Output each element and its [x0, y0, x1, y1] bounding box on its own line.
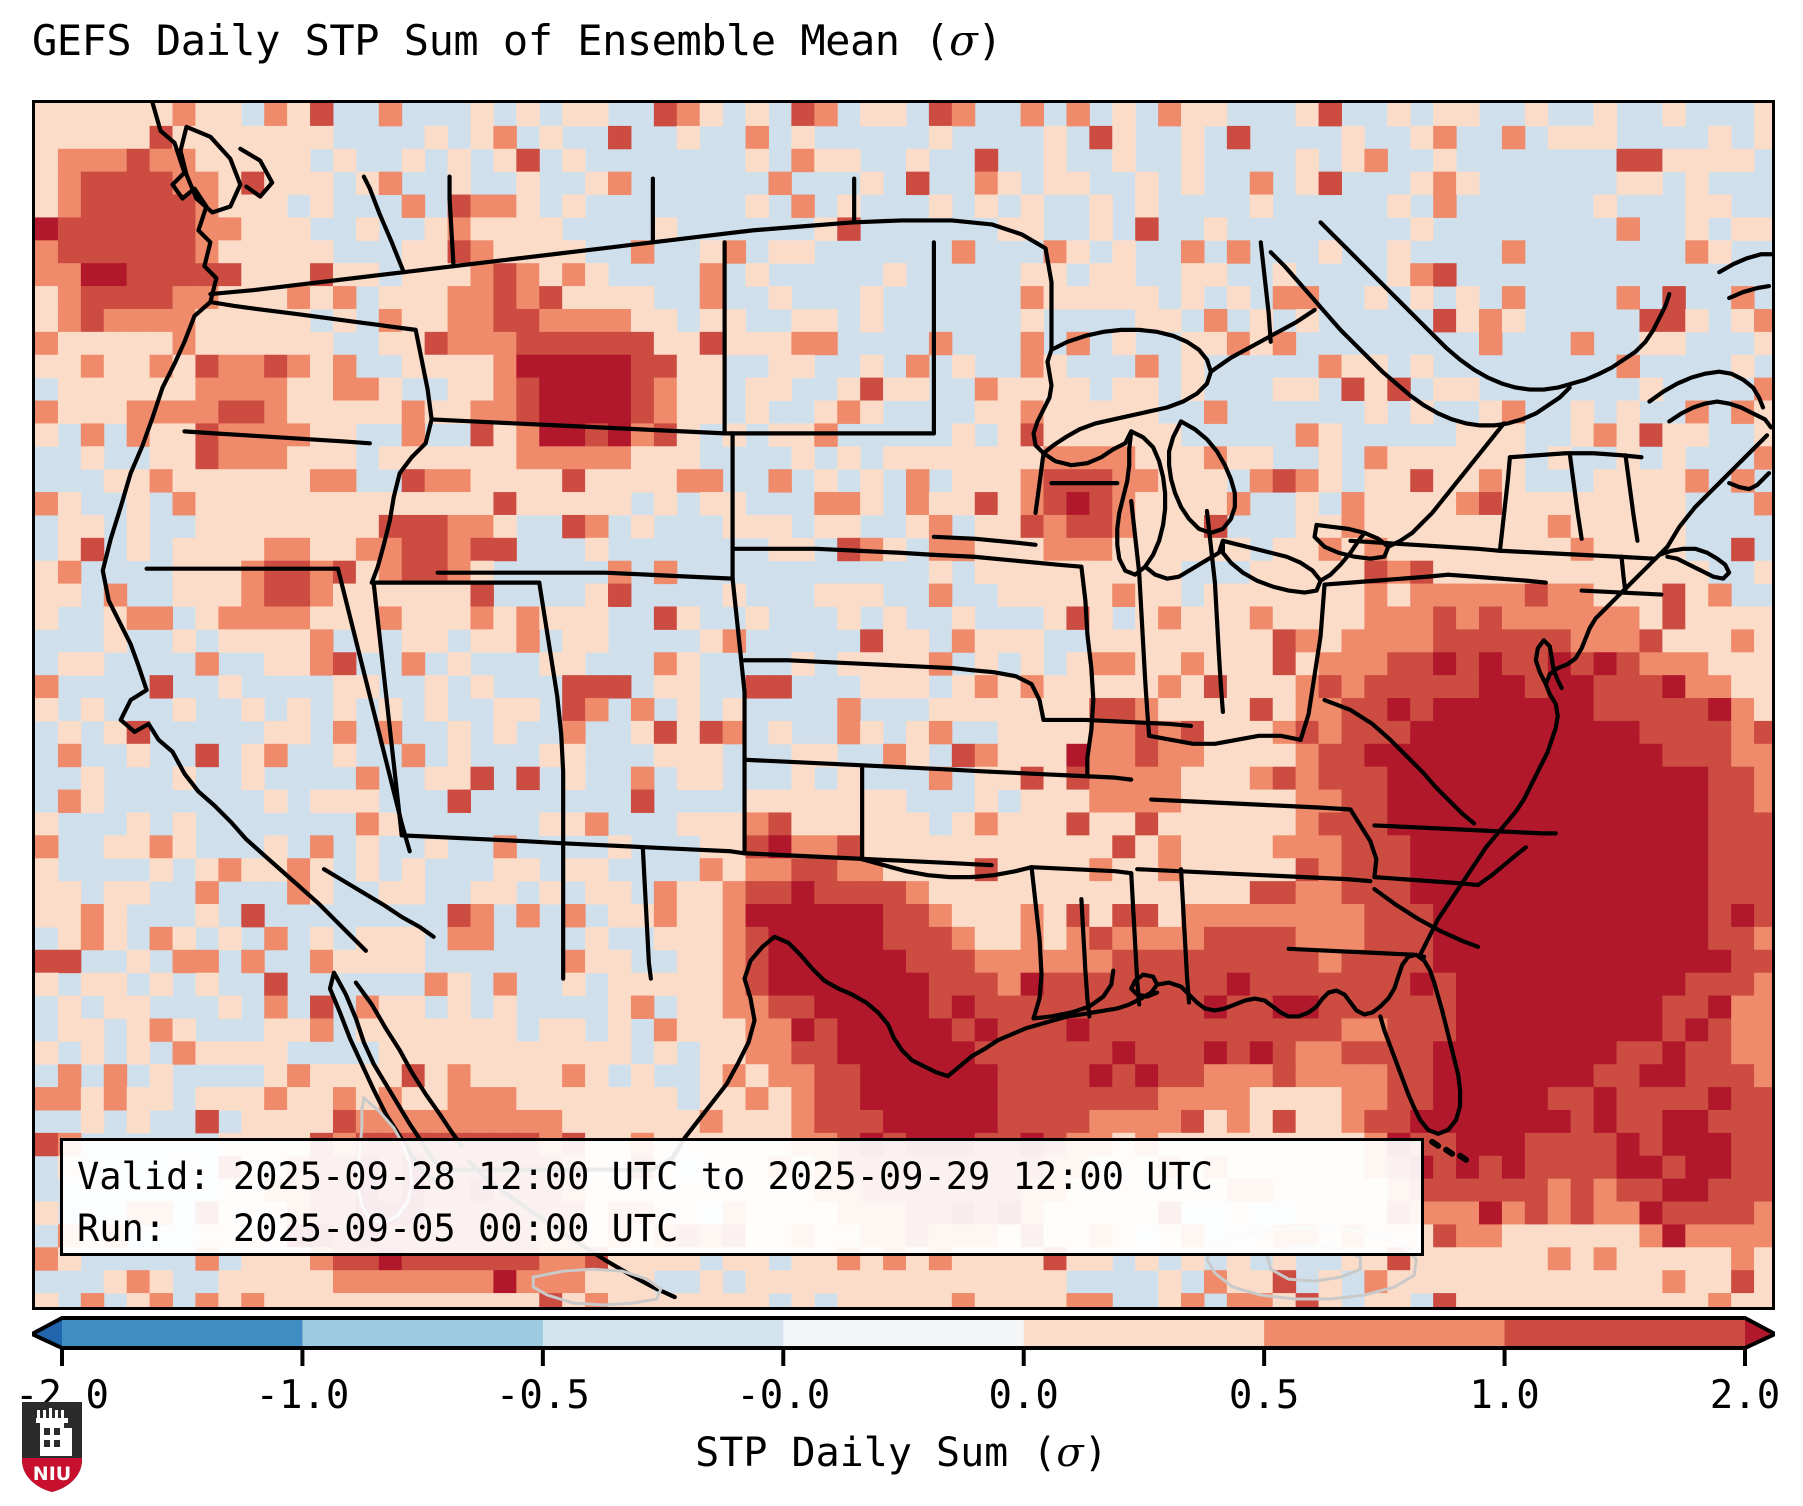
heatmap-cell — [1731, 1110, 1754, 1133]
heatmap-cell — [1548, 790, 1571, 813]
heatmap-cell — [81, 790, 104, 813]
heatmap-cell — [195, 744, 218, 767]
heatmap-cell — [1548, 606, 1571, 629]
heatmap-cell — [1754, 1110, 1772, 1133]
heatmap-cell — [1319, 446, 1342, 469]
heatmap-cell — [241, 744, 264, 767]
heatmap-cell — [700, 1018, 723, 1041]
heatmap-cell — [1250, 744, 1273, 767]
heatmap-cell — [1594, 561, 1617, 584]
heatmap-cell — [1089, 606, 1112, 629]
heatmap-cell — [1158, 744, 1181, 767]
heatmap-cell — [608, 973, 631, 996]
heatmap-cell — [1319, 423, 1342, 446]
heatmap-cell — [287, 103, 310, 126]
heatmap-cell — [333, 744, 356, 767]
heatmap-cell — [310, 355, 333, 378]
heatmap-cell — [1571, 1110, 1594, 1133]
heatmap-cell — [929, 698, 952, 721]
heatmap-cell — [35, 492, 58, 515]
heatmap-cell — [1754, 652, 1772, 675]
heatmap-cell — [1639, 469, 1662, 492]
heatmap-cell — [448, 286, 471, 309]
heatmap-cell — [1685, 721, 1708, 744]
heatmap-cell — [1433, 515, 1456, 538]
heatmap-cell — [1662, 469, 1685, 492]
heatmap-cell — [218, 538, 241, 561]
heatmap-cell — [104, 1270, 127, 1293]
heatmap-cell — [723, 950, 746, 973]
heatmap-cell — [310, 240, 333, 263]
heatmap-cell — [1525, 103, 1548, 126]
heatmap-cell — [1754, 561, 1772, 584]
heatmap-cell — [104, 355, 127, 378]
heatmap-cell — [975, 927, 998, 950]
heatmap-cell — [35, 606, 58, 629]
heatmap-cell — [218, 858, 241, 881]
heatmap-cell — [562, 309, 585, 332]
heatmap-cell — [585, 675, 608, 698]
heatmap-cell — [929, 835, 952, 858]
heatmap-cell — [998, 1293, 1021, 1307]
heatmap-cell — [631, 378, 654, 401]
heatmap-cell — [1525, 973, 1548, 996]
heatmap-cell — [1754, 1087, 1772, 1110]
heatmap-cell — [1754, 446, 1772, 469]
heatmap-cell — [1066, 240, 1089, 263]
heatmap-cell — [516, 629, 539, 652]
heatmap-cell — [585, 950, 608, 973]
heatmap-cell — [218, 309, 241, 332]
heatmap-cell — [1594, 629, 1617, 652]
heatmap-cell — [1158, 652, 1181, 675]
heatmap-cell — [975, 195, 998, 218]
heatmap-cell — [333, 1293, 356, 1307]
heatmap-cell — [1594, 126, 1617, 149]
heatmap-cell — [585, 263, 608, 286]
heatmap-cell — [1341, 927, 1364, 950]
heatmap-cell — [1227, 950, 1250, 973]
heatmap-cell — [448, 1018, 471, 1041]
heatmap-cell — [493, 973, 516, 996]
heatmap-cell — [218, 629, 241, 652]
heatmap-cell — [700, 469, 723, 492]
heatmap-cell — [1502, 996, 1525, 1019]
heatmap-cell — [1296, 744, 1319, 767]
heatmap-cell — [1548, 927, 1571, 950]
heatmap-cell — [1250, 1110, 1273, 1133]
heatmap-cell — [1341, 1087, 1364, 1110]
heatmap-cell — [1456, 835, 1479, 858]
heatmap-cell — [493, 1064, 516, 1087]
heatmap-cell — [1181, 126, 1204, 149]
heatmap-cell — [104, 286, 127, 309]
heatmap-cell — [1662, 446, 1685, 469]
heatmap-cell — [218, 103, 241, 126]
heatmap-cell — [35, 1293, 58, 1307]
heatmap-cell — [768, 1270, 791, 1293]
heatmap-cell — [1089, 217, 1112, 240]
heatmap-cell — [677, 812, 700, 835]
heatmap-cell — [150, 423, 173, 446]
heatmap-cell — [608, 1018, 631, 1041]
heatmap-cell — [768, 996, 791, 1019]
heatmap-cell — [81, 401, 104, 424]
heatmap-cell — [1410, 606, 1433, 629]
heatmap-cell — [448, 767, 471, 790]
heatmap-cell — [1433, 1179, 1456, 1202]
heatmap-cell — [173, 561, 196, 584]
heatmap-cell — [677, 469, 700, 492]
heatmap-cell — [425, 469, 448, 492]
heatmap-cell — [1250, 1064, 1273, 1087]
heatmap-cell — [1021, 378, 1044, 401]
heatmap-cell — [1594, 1018, 1617, 1041]
heatmap-cell — [1662, 1064, 1685, 1087]
heatmap-cell — [562, 629, 585, 652]
heatmap-cell — [906, 492, 929, 515]
heatmap-cell — [539, 1064, 562, 1087]
heatmap-cell — [654, 423, 677, 446]
heatmap-cell — [1617, 1110, 1640, 1133]
heatmap-cell — [35, 1202, 58, 1225]
heatmap-cell — [1525, 1064, 1548, 1087]
heatmap-cell — [1135, 1018, 1158, 1041]
heatmap-cell — [218, 675, 241, 698]
heatmap-cell — [402, 469, 425, 492]
heatmap-cell — [1158, 996, 1181, 1019]
heatmap-cell — [1158, 1041, 1181, 1064]
heatmap-cell — [1250, 835, 1273, 858]
heatmap-cell — [104, 263, 127, 286]
heatmap-cell — [333, 652, 356, 675]
heatmap-cell — [700, 492, 723, 515]
heatmap-cell — [1181, 515, 1204, 538]
heatmap-cell — [1639, 904, 1662, 927]
heatmap-cell — [1479, 1018, 1502, 1041]
heatmap-cell — [173, 629, 196, 652]
heatmap-cell — [493, 698, 516, 721]
heatmap-cell — [310, 835, 333, 858]
colorbar-tick-label: 0.0 — [988, 1374, 1058, 1418]
heatmap-cell — [654, 1041, 677, 1064]
heatmap-cell — [1066, 103, 1089, 126]
heatmap-cell — [287, 606, 310, 629]
heatmap-cell — [1754, 629, 1772, 652]
heatmap-cell — [1456, 1202, 1479, 1225]
heatmap-cell — [1410, 263, 1433, 286]
heatmap-cell — [1021, 1087, 1044, 1110]
heatmap-cell — [1594, 195, 1617, 218]
heatmap-cell — [1044, 904, 1067, 927]
heatmap-cell — [287, 1110, 310, 1133]
heatmap-cell — [58, 195, 81, 218]
heatmap-cell — [906, 1110, 929, 1133]
heatmap-cell — [448, 927, 471, 950]
heatmap-cell — [975, 172, 998, 195]
heatmap-cell — [448, 721, 471, 744]
heatmap-cell — [1708, 996, 1731, 1019]
heatmap-cell — [791, 1110, 814, 1133]
heatmap-cell — [448, 355, 471, 378]
heatmap-cell — [1502, 1224, 1525, 1247]
heatmap-cell — [1135, 1087, 1158, 1110]
heatmap-cell — [1571, 538, 1594, 561]
heatmap-cell — [1044, 812, 1067, 835]
heatmap-cell — [35, 1133, 58, 1156]
heatmap-cell — [1525, 1224, 1548, 1247]
heatmap-cell — [264, 469, 287, 492]
heatmap-cell — [952, 1270, 975, 1293]
heatmap-cell — [1066, 378, 1089, 401]
heatmap-cell — [241, 469, 264, 492]
heatmap-cell — [1158, 1270, 1181, 1293]
heatmap-cell — [127, 1270, 150, 1293]
heatmap-cell — [654, 446, 677, 469]
heatmap-cell — [746, 149, 769, 172]
heatmap-cell — [585, 927, 608, 950]
heatmap-cell — [1227, 675, 1250, 698]
heatmap-cell — [906, 469, 929, 492]
heatmap-cell — [1662, 561, 1685, 584]
heatmap-cell — [1571, 584, 1594, 607]
heatmap-cell — [1227, 812, 1250, 835]
heatmap-cell — [379, 927, 402, 950]
heatmap-cell — [1158, 927, 1181, 950]
heatmap-cell — [998, 1064, 1021, 1087]
heatmap-cell — [654, 378, 677, 401]
heatmap-cell — [1364, 1110, 1387, 1133]
heatmap-cell — [1456, 584, 1479, 607]
heatmap-cell — [1433, 835, 1456, 858]
heatmap-cell — [264, 927, 287, 950]
heatmap-cell — [585, 515, 608, 538]
heatmap-cell — [585, 469, 608, 492]
heatmap-cell — [837, 1110, 860, 1133]
heatmap-cell — [218, 378, 241, 401]
heatmap-cell — [470, 446, 493, 469]
heatmap-cell — [929, 584, 952, 607]
heatmap-cell — [1296, 606, 1319, 629]
heatmap-cell — [585, 172, 608, 195]
heatmap-cell — [975, 1110, 998, 1133]
heatmap-cell — [1227, 240, 1250, 263]
heatmap-cell — [310, 286, 333, 309]
heatmap-cell — [1548, 835, 1571, 858]
heatmap-cell — [35, 812, 58, 835]
heatmap-cell — [1548, 996, 1571, 1019]
heatmap-cell — [287, 1293, 310, 1307]
heatmap-cell — [1021, 835, 1044, 858]
heatmap-cell — [723, 1018, 746, 1041]
heatmap-cell — [425, 1041, 448, 1064]
heatmap-cell — [287, 355, 310, 378]
heatmap-cell — [150, 927, 173, 950]
heatmap-cell — [906, 904, 929, 927]
heatmap-cell — [1158, 606, 1181, 629]
heatmap-cell — [585, 629, 608, 652]
heatmap-cell — [677, 1293, 700, 1307]
heatmap-cell — [1639, 1087, 1662, 1110]
heatmap-cell — [81, 240, 104, 263]
heatmap-cell — [1685, 1018, 1708, 1041]
heatmap-cell — [631, 423, 654, 446]
heatmap-cell — [173, 401, 196, 424]
heatmap-cell — [631, 446, 654, 469]
heatmap-cell — [195, 652, 218, 675]
heatmap-cell — [700, 286, 723, 309]
heatmap-cell — [1754, 606, 1772, 629]
heatmap-cell — [1548, 584, 1571, 607]
heatmap-cell — [791, 881, 814, 904]
heatmap-cell — [1525, 1247, 1548, 1270]
heatmap-cell — [241, 217, 264, 240]
heatmap-cell — [1410, 996, 1433, 1019]
heatmap-cell — [1089, 492, 1112, 515]
heatmap-cell — [1364, 904, 1387, 927]
heatmap-cell — [1319, 355, 1342, 378]
heatmap-cell — [1594, 835, 1617, 858]
heatmap-cell — [814, 812, 837, 835]
heatmap-cell — [1548, 538, 1571, 561]
heatmap-cell — [1708, 1087, 1731, 1110]
heatmap-cell — [35, 973, 58, 996]
heatmap-cell — [150, 1018, 173, 1041]
heatmap-cell — [1433, 195, 1456, 218]
heatmap-cell — [883, 1110, 906, 1133]
heatmap-cell — [1662, 881, 1685, 904]
heatmap-cell — [654, 881, 677, 904]
heatmap-cell — [1089, 286, 1112, 309]
heatmap-cell — [493, 1270, 516, 1293]
heatmap-cell — [516, 446, 539, 469]
heatmap-cell — [1319, 744, 1342, 767]
heatmap-cell — [1410, 561, 1433, 584]
heatmap-cell — [1227, 1064, 1250, 1087]
heatmap-cell — [814, 1018, 837, 1041]
heatmap-cell — [1112, 927, 1135, 950]
heatmap-cell — [608, 378, 631, 401]
heatmap-cell — [1204, 1087, 1227, 1110]
heatmap-cell — [654, 309, 677, 332]
heatmap-cell — [631, 1087, 654, 1110]
heatmap-cell — [333, 1110, 356, 1133]
heatmap-cell — [425, 286, 448, 309]
heatmap-cell — [173, 835, 196, 858]
heatmap-cell — [310, 1270, 333, 1293]
colorbar-axis-label: STP Daily Sum (σ) — [0, 1430, 1803, 1476]
heatmap-cell — [81, 538, 104, 561]
heatmap-cell — [814, 790, 837, 813]
heatmap-cell — [402, 515, 425, 538]
heatmap-cell — [1548, 973, 1571, 996]
heatmap-cell — [287, 240, 310, 263]
heatmap-cell — [1594, 1110, 1617, 1133]
heatmap-cell — [1181, 1110, 1204, 1133]
heatmap-cell — [1708, 584, 1731, 607]
heatmap-cell — [860, 584, 883, 607]
heatmap-cell — [195, 950, 218, 973]
heatmap-cell — [1089, 515, 1112, 538]
heatmap-cell — [104, 309, 127, 332]
heatmap-cell — [1708, 1224, 1731, 1247]
colorbar[interactable] — [32, 1314, 1775, 1356]
heatmap-cell — [1639, 1133, 1662, 1156]
heatmap-cell — [1250, 767, 1273, 790]
heatmap-cell — [1456, 950, 1479, 973]
heatmap-cell — [1364, 652, 1387, 675]
heatmap-cell — [998, 469, 1021, 492]
heatmap-cell — [860, 286, 883, 309]
heatmap-cell — [287, 469, 310, 492]
heatmap-cell — [1502, 904, 1525, 927]
heatmap-cell — [1594, 744, 1617, 767]
heatmap-cell — [1639, 1202, 1662, 1225]
heatmap-cell — [1731, 675, 1754, 698]
heatmap-cell — [1387, 240, 1410, 263]
heatmap-cell — [906, 835, 929, 858]
heatmap-cell — [470, 378, 493, 401]
heatmap-cell — [631, 1064, 654, 1087]
heatmap-cell — [470, 767, 493, 790]
heatmap-cell — [1341, 767, 1364, 790]
heatmap-cell — [814, 332, 837, 355]
heatmap-cell — [1594, 927, 1617, 950]
heatmap-cell — [127, 195, 150, 218]
heatmap-cell — [562, 950, 585, 973]
heatmap-cell — [1571, 1156, 1594, 1179]
heatmap-cell — [1341, 492, 1364, 515]
heatmap-cell — [333, 561, 356, 584]
heatmap-cell — [287, 1064, 310, 1087]
heatmap-cell — [791, 355, 814, 378]
heatmap-cell — [356, 835, 379, 858]
heatmap-cell — [814, 1087, 837, 1110]
heatmap-cell — [150, 263, 173, 286]
heatmap-cell — [1571, 1270, 1594, 1293]
heatmap-cell — [1410, 1041, 1433, 1064]
heatmap-cell — [402, 423, 425, 446]
heatmap-cell — [470, 1087, 493, 1110]
heatmap-cell — [1296, 812, 1319, 835]
heatmap-cell — [195, 538, 218, 561]
heatmap-cell — [264, 355, 287, 378]
heatmap-cell — [1227, 1293, 1250, 1307]
heatmap-cell — [493, 996, 516, 1019]
heatmap-cell — [1066, 1018, 1089, 1041]
heatmap-cell — [287, 172, 310, 195]
heatmap-cell — [1341, 652, 1364, 675]
heatmap-cell — [677, 332, 700, 355]
heatmap-cell — [700, 835, 723, 858]
colorbar-tick-label: 2.0 — [1710, 1374, 1780, 1418]
heatmap-cell — [493, 355, 516, 378]
heatmap-cell — [1639, 858, 1662, 881]
heatmap-cell — [1227, 1041, 1250, 1064]
heatmap-cell — [1204, 835, 1227, 858]
heatmap-cell — [1479, 1247, 1502, 1270]
heatmap-cell — [173, 423, 196, 446]
heatmap-cell — [1639, 1110, 1662, 1133]
heatmap-cell — [1617, 1018, 1640, 1041]
heatmap-cell — [1456, 904, 1479, 927]
heatmap-cell — [1594, 492, 1617, 515]
heatmap-cell — [1044, 538, 1067, 561]
heatmap-cell — [1708, 927, 1731, 950]
heatmap-cell — [58, 538, 81, 561]
heatmap-cell — [425, 629, 448, 652]
heatmap-cell — [1250, 858, 1273, 881]
